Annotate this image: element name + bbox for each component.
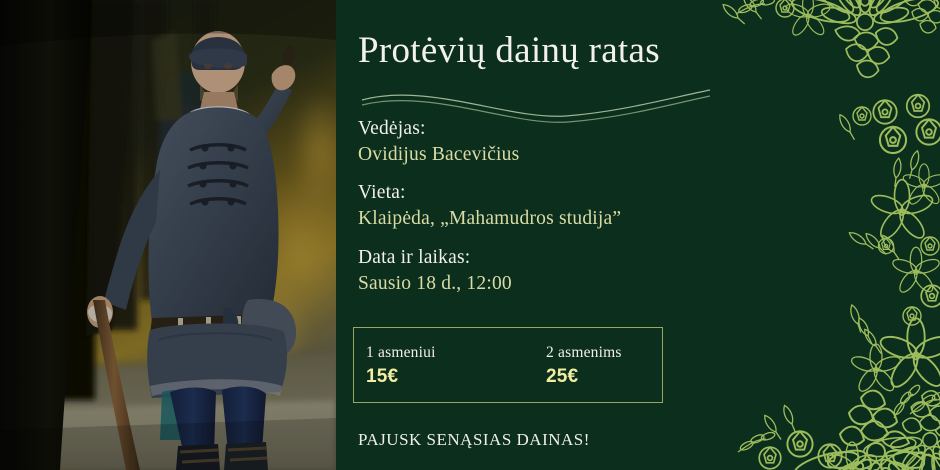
detail-value: Sausio 18 d., 12:00 bbox=[358, 271, 718, 297]
detail-datetime: Data ir laikas: Sausio 18 d., 12:00 bbox=[358, 245, 718, 296]
detail-value: Ovidijus Bacevičius bbox=[358, 142, 718, 168]
event-poster: Protėvių dainų ratas Vedėjas: Ovidijus B… bbox=[0, 0, 940, 470]
detail-label: Data ir laikas: bbox=[358, 245, 718, 271]
detail-value: Klaipėda, „Mahamudros studija” bbox=[358, 206, 718, 232]
detail-label: Vieta: bbox=[358, 180, 718, 206]
performer-photo bbox=[0, 0, 336, 470]
detail-host: Vedėjas: Ovidijus Bacevičius bbox=[358, 116, 718, 167]
price-option-double: 2 asmenims 25€ bbox=[546, 341, 622, 390]
pricing-box: 1 asmeniui 15€ 2 asmenims 25€ bbox=[353, 327, 663, 403]
price-amount: 15€ bbox=[366, 364, 546, 390]
price-label: 1 asmeniui bbox=[366, 341, 546, 364]
event-details-list: Vedėjas: Ovidijus Bacevičius Vieta: Klai… bbox=[358, 116, 718, 309]
price-label: 2 asmenims bbox=[546, 341, 622, 364]
detail-location: Vieta: Klaipėda, „Mahamudros studija” bbox=[358, 180, 718, 231]
price-amount: 25€ bbox=[546, 364, 622, 390]
page-title: Protėvių dainų ratas bbox=[358, 30, 738, 73]
tagline: PAJUSK SENĄSIAS DAINAS! bbox=[358, 430, 590, 450]
detail-label: Vedėjas: bbox=[358, 116, 718, 142]
price-option-single: 1 asmeniui 15€ bbox=[366, 341, 546, 390]
